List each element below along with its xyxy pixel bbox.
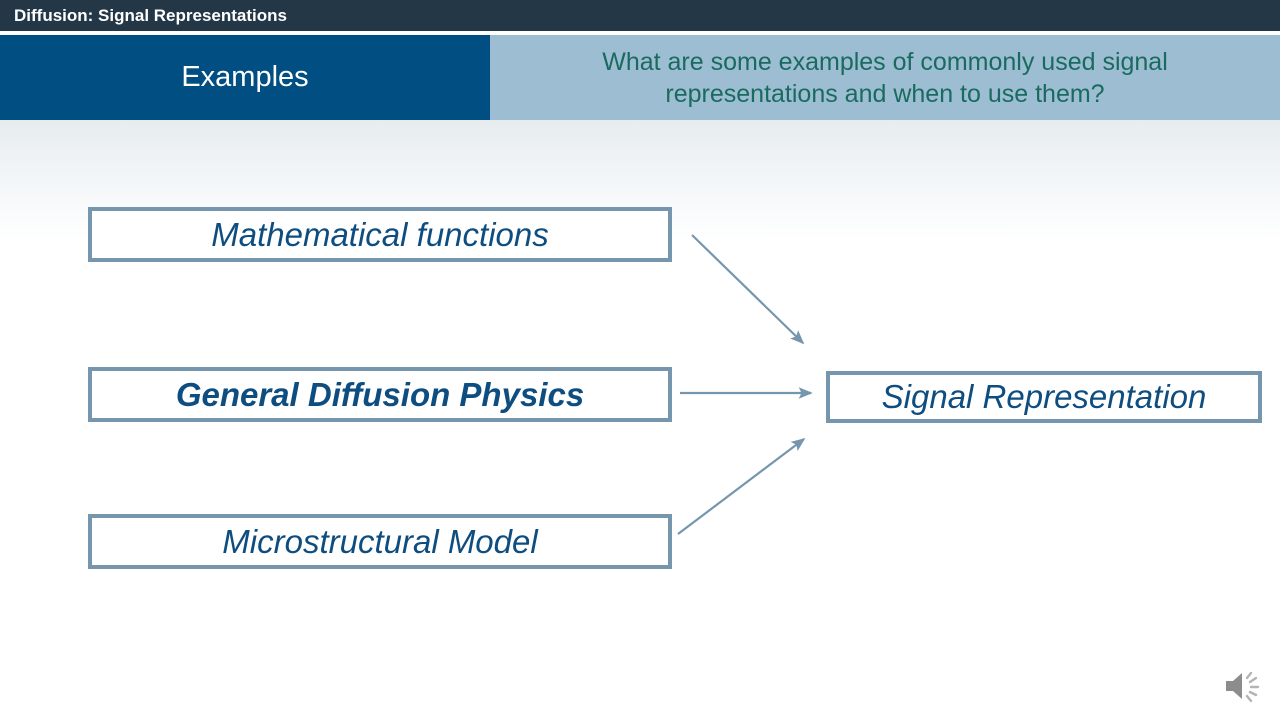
concept-box-signal-representation[interactable]: Signal Representation (826, 371, 1262, 423)
speaker-waves-icon (1247, 673, 1258, 701)
body-background (0, 240, 1280, 720)
concept-box-label: Signal Representation (882, 378, 1207, 416)
concept-box-label: General Diffusion Physics (176, 376, 584, 414)
concept-box-label: Mathematical functions (211, 216, 549, 254)
concept-box-microstructural-model[interactable]: Microstructural Model (88, 514, 672, 569)
banner: Examples What are some examples of commo… (0, 35, 1280, 120)
slide-title: Diffusion: Signal Representations (14, 0, 287, 31)
concept-box-mathematical-functions[interactable]: Mathematical functions (88, 207, 672, 262)
concept-box-general-diffusion-physics[interactable]: General Diffusion Physics (88, 367, 672, 422)
title-bar: Diffusion: Signal Representations (0, 0, 1280, 31)
section-chip: Examples (0, 35, 490, 120)
slide-canvas: Diffusion: Signal Representations Exampl… (0, 0, 1280, 720)
speaker-icon[interactable] (1222, 666, 1268, 706)
concept-box-label: Microstructural Model (222, 523, 537, 561)
question-text: What are some examples of commonly used … (525, 46, 1245, 110)
section-chip-label: Examples (0, 35, 490, 120)
question-panel: What are some examples of commonly used … (490, 35, 1280, 120)
speaker-body-icon (1226, 673, 1242, 699)
